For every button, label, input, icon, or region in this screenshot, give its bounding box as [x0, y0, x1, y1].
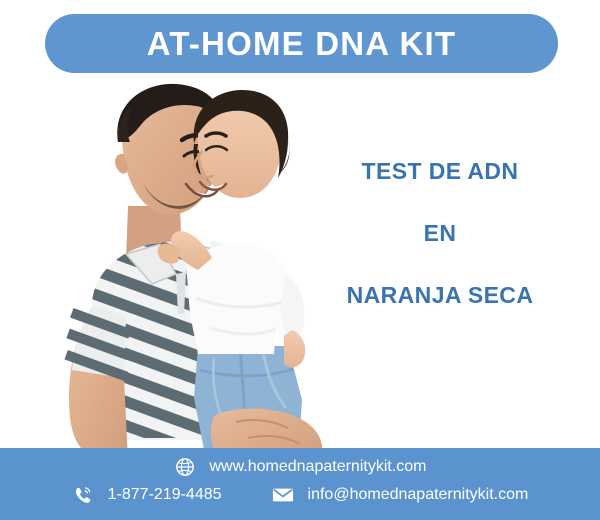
- page-title: AT-HOME DNA KIT: [147, 27, 456, 60]
- footer-phone-email-row: 1-877-219-4485 info@homednapaternitykit.…: [0, 484, 600, 506]
- headline-block: TEST DE ADN EN NARANJA SECA: [320, 160, 560, 307]
- headline-line-1: TEST DE ADN: [320, 160, 560, 183]
- header-banner: AT-HOME DNA KIT: [45, 14, 558, 73]
- footer-website-row: www.homednapaternitykit.com: [0, 456, 600, 478]
- footer-phone-text[interactable]: 1-877-219-4485: [108, 487, 222, 503]
- headline-line-2: EN: [320, 222, 560, 245]
- family-photo-illustration: [0, 78, 330, 460]
- family-photo: [0, 78, 330, 460]
- poster-canvas: AT-HOME DNA KIT: [0, 0, 600, 520]
- footer-email-text[interactable]: info@homednapaternitykit.com: [308, 487, 529, 503]
- footer-website-text[interactable]: www.homednapaternitykit.com: [210, 459, 427, 475]
- globe-icon: [174, 456, 196, 478]
- footer-contact-bar: www.homednapaternitykit.com 1-877-219-44…: [0, 448, 600, 520]
- phone-icon: [72, 484, 94, 506]
- envelope-icon: [272, 484, 294, 506]
- headline-line-3: NARANJA SECA: [320, 284, 560, 307]
